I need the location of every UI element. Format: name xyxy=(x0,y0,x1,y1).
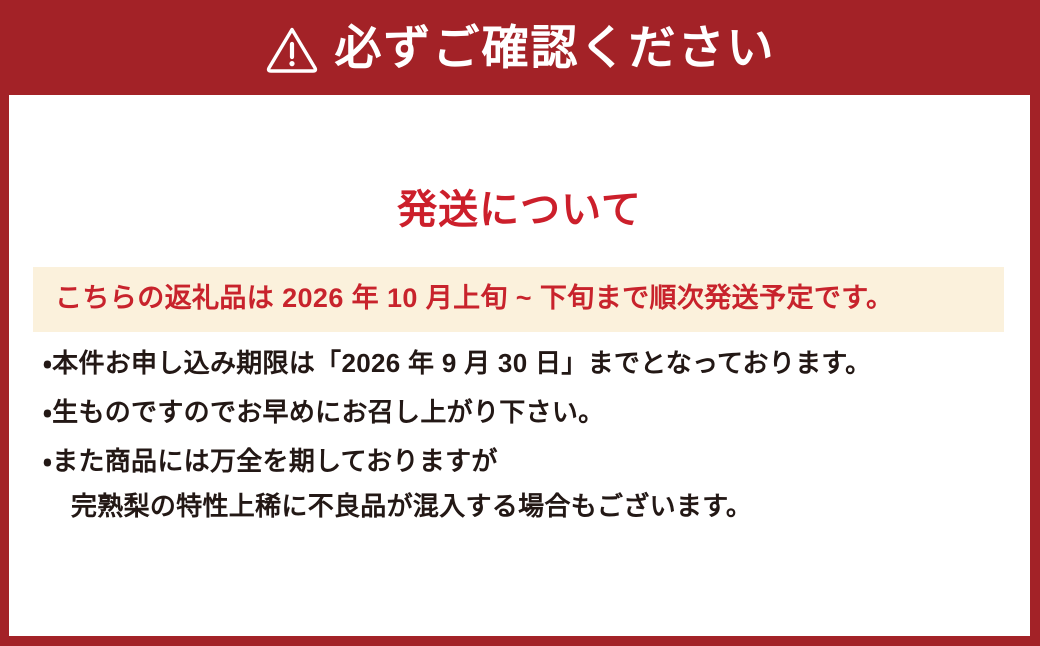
shipping-notice-card: 必ずご確認ください 発送について こちらの返礼品は 2026 年 10 月上旬 … xyxy=(0,0,1040,646)
shipping-schedule-text: こちらの返礼品は 2026 年 10 月上旬 ~ 下旬まで順次発送予定です。 xyxy=(55,284,982,314)
bullet-text: ・生ものですのでお早めにお召し上がり下さい。 xyxy=(43,397,604,427)
notice-bullet-list: ・本件お申し込み期限は「2026 年 9 月 30 日」までとなっております。 … xyxy=(43,350,1030,519)
list-item: ・生ものですのでお早めにお召し上がり下さい。 xyxy=(43,399,1030,425)
warning-triangle-icon xyxy=(265,24,319,74)
bullet-subline: 完熟梨の特性上稀に不良品が混入する場合もございます。 xyxy=(43,493,1030,519)
list-item: ・本件お申し込み期限は「2026 年 9 月 30 日」までとなっております。 xyxy=(43,350,1030,376)
notice-header-banner: 必ずご確認ください xyxy=(0,0,1040,95)
bullet-text: ・また商品には万全を期しておりますが xyxy=(43,446,498,476)
shipping-schedule-highlight: こちらの返礼品は 2026 年 10 月上旬 ~ 下旬まで順次発送予定です。 xyxy=(33,267,1004,332)
notice-body: 発送について こちらの返礼品は 2026 年 10 月上旬 ~ 下旬まで順次発送… xyxy=(9,95,1030,636)
notice-header-title: 必ずご確認ください xyxy=(335,24,776,71)
bullet-text: ・本件お申し込み期限は「2026 年 9 月 30 日」までとなっております。 xyxy=(43,348,871,378)
list-item: ・また商品には万全を期しておりますが 完熟梨の特性上稀に不良品が混入する場合もご… xyxy=(43,448,1030,519)
section-title-shipping: 発送について xyxy=(9,190,1030,230)
